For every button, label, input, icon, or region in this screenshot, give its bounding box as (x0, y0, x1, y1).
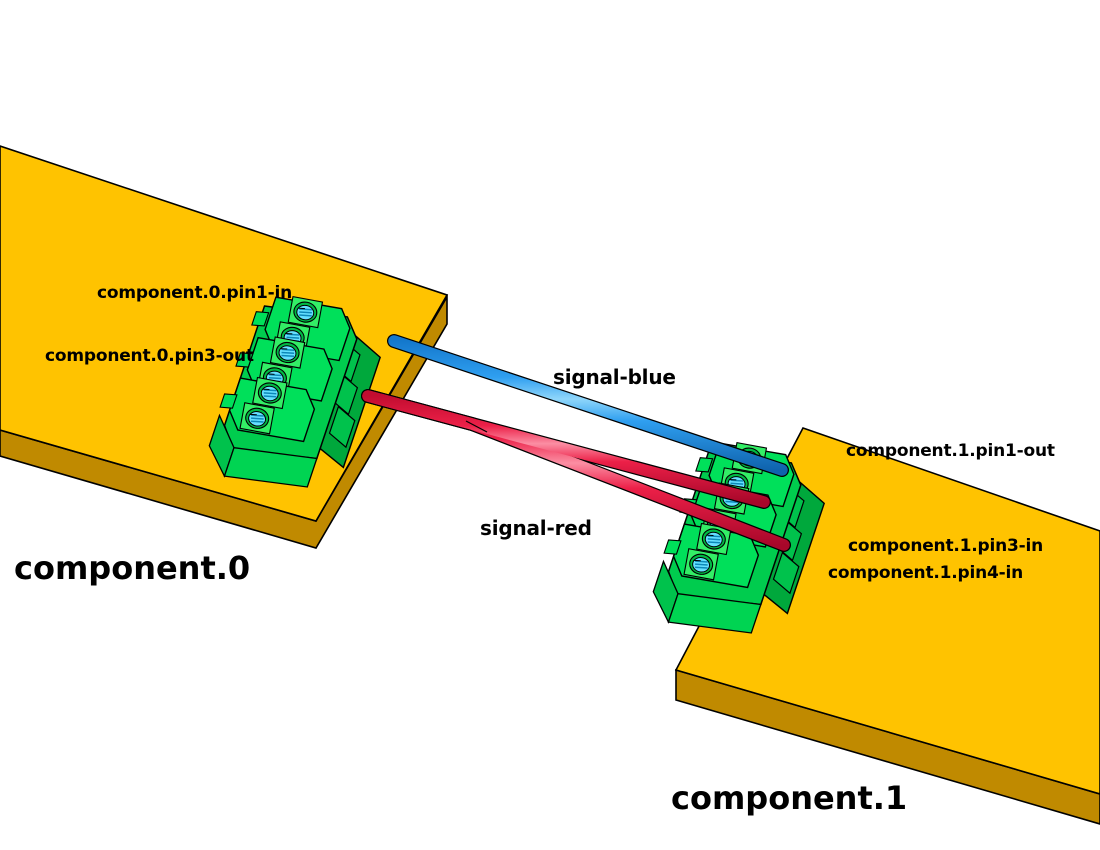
pin-label-component-0-pin3-out: component.0.pin3-out (45, 348, 254, 365)
component-0-title: component.0 (14, 552, 250, 584)
component-1-title: component.1 (671, 782, 907, 814)
signal-label-red: signal-red (480, 518, 592, 538)
signal-label-blue: signal-blue (553, 367, 676, 387)
pin-label-component-1-pin4-in: component.1.pin4-in (828, 565, 1023, 582)
pin-label-component-0-pin1-in: component.0.pin1-in (97, 285, 292, 302)
pin-label-component-1-pin3-in: component.1.pin3-in (848, 538, 1043, 555)
diagram-svg (0, 0, 1100, 850)
wiring-diagram-canvas: component.0.pin1-in component.0.pin3-out… (0, 0, 1100, 850)
pin-label-component-1-pin1-out: component.1.pin1-out (846, 443, 1055, 460)
